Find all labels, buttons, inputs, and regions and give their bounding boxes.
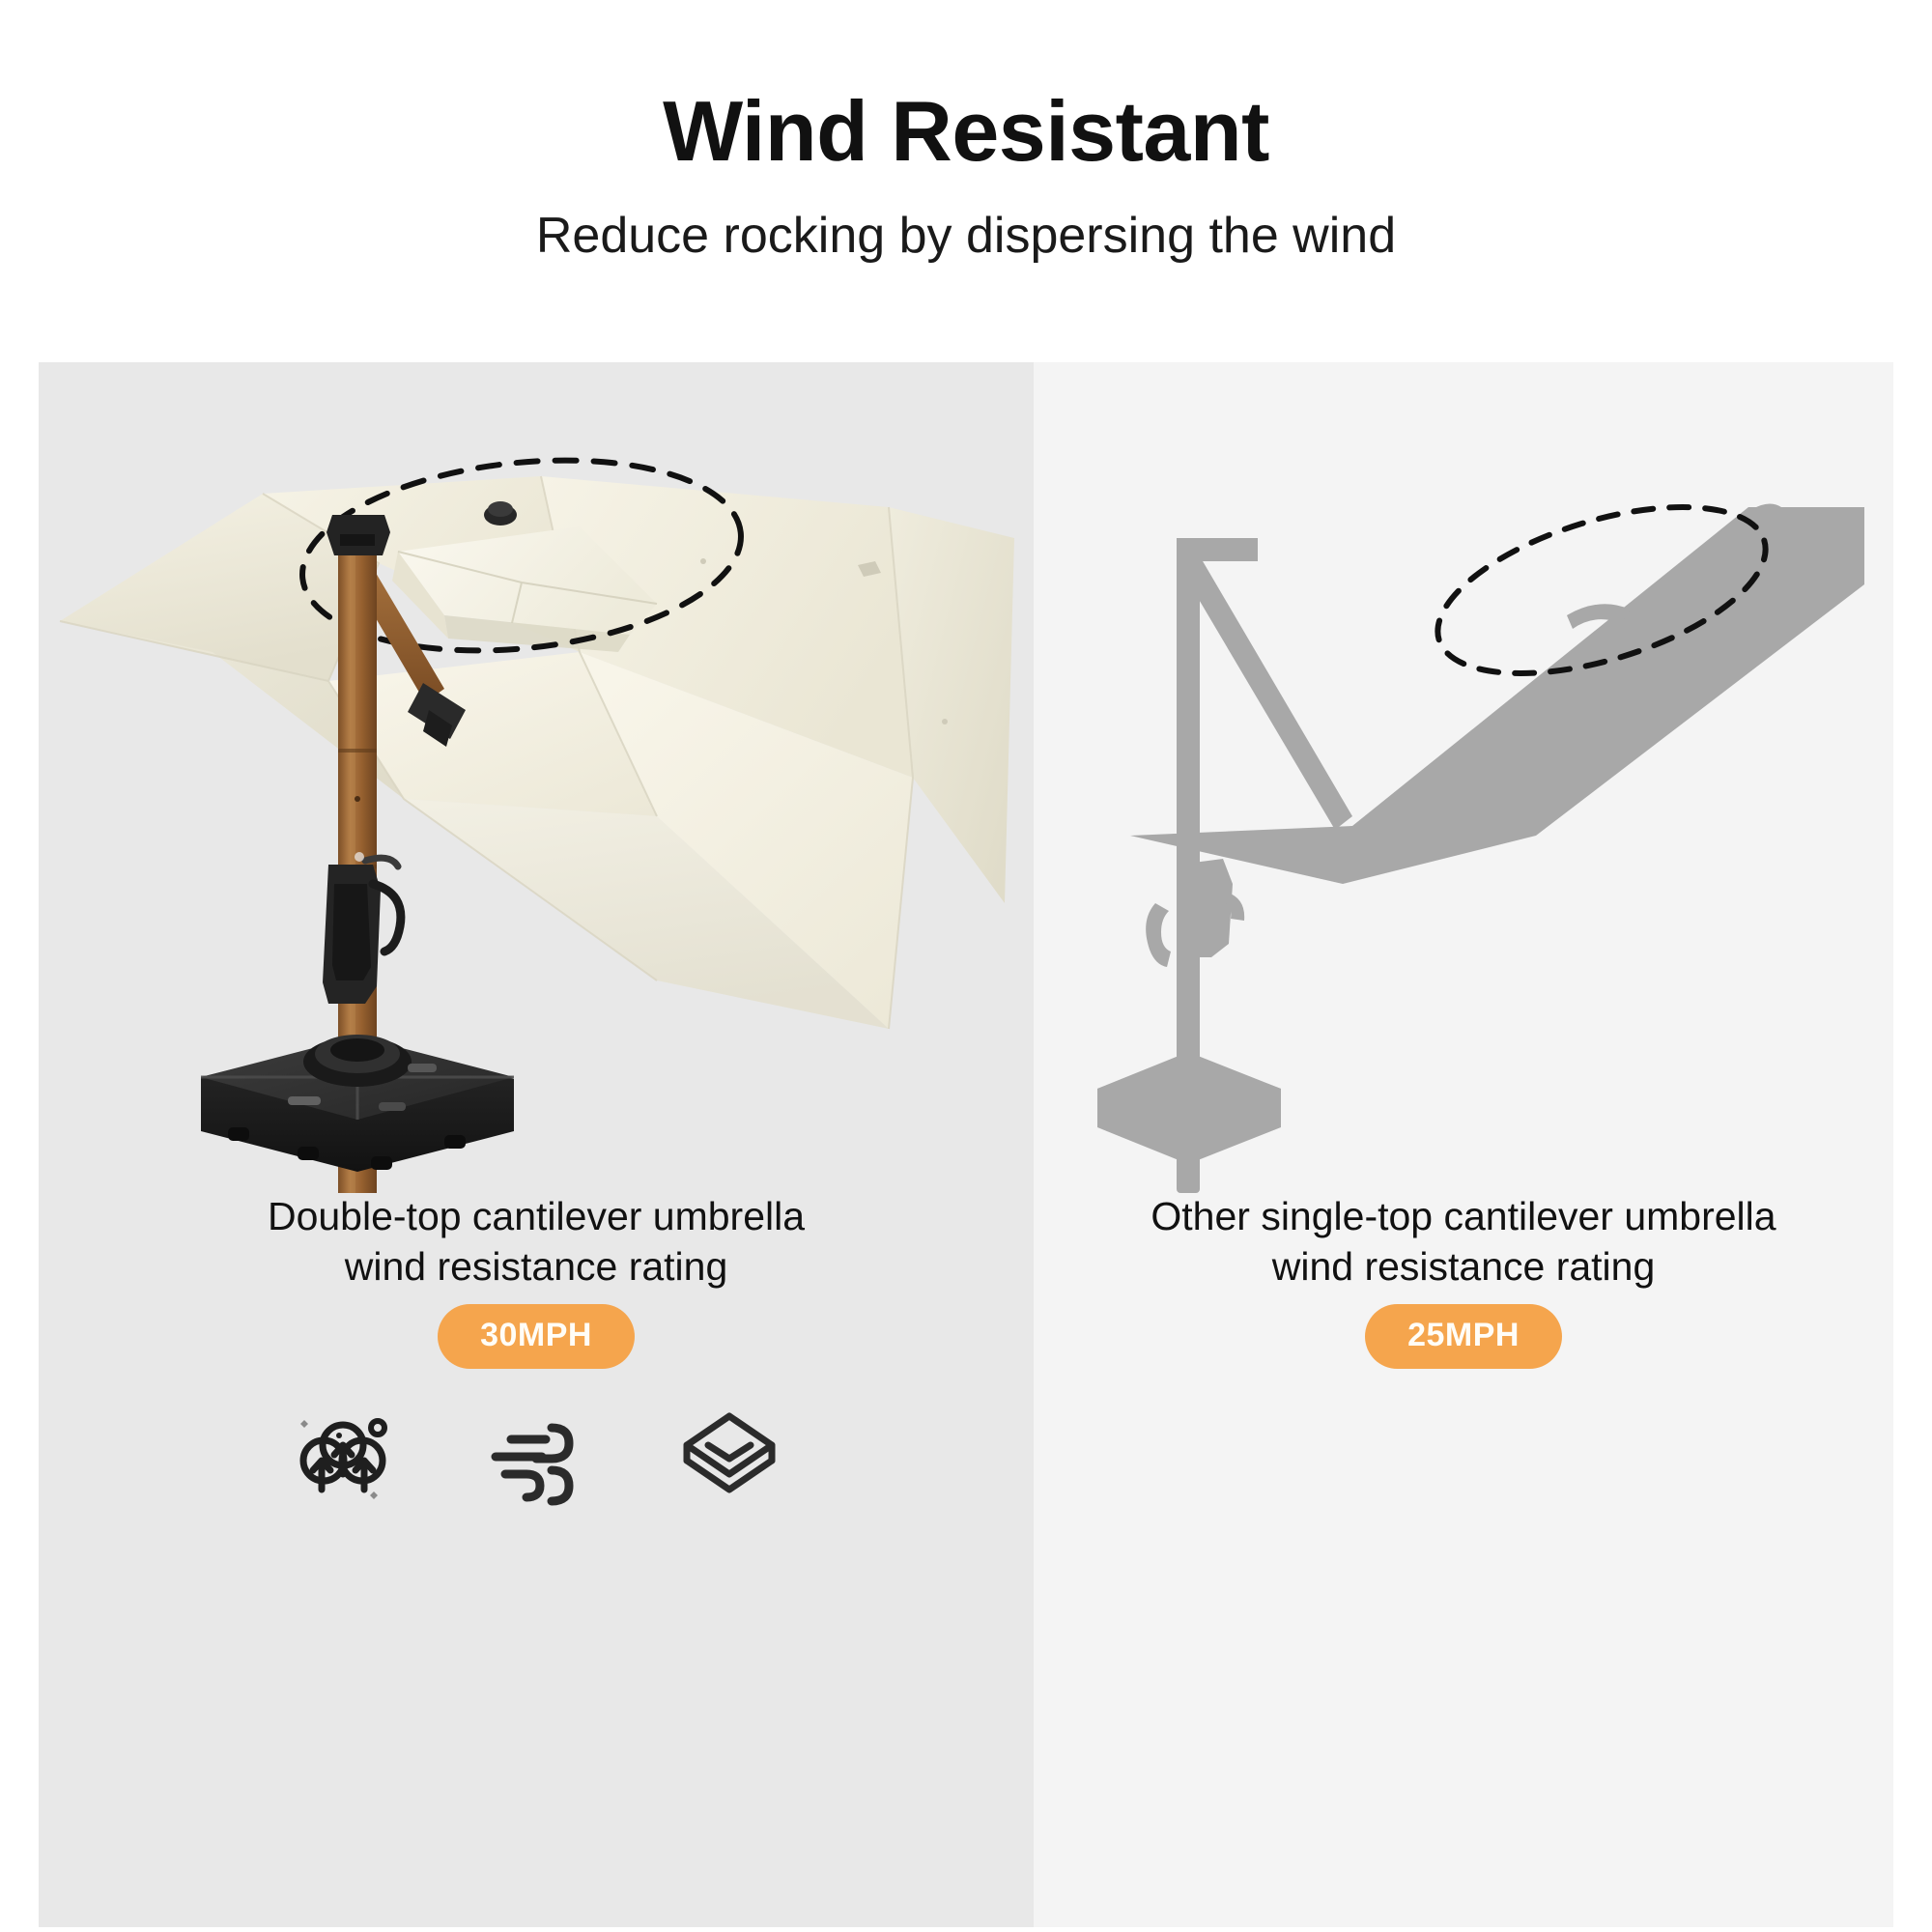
wind-flow-icon — [482, 1401, 590, 1509]
infographic-page: Wind Resistant Reduce rocking by dispers… — [0, 0, 1932, 1932]
header: Wind Resistant Reduce rocking by dispers… — [0, 0, 1932, 261]
right-caption-line2: wind resistance rating — [1034, 1241, 1893, 1292]
page-title: Wind Resistant — [0, 0, 1932, 174]
feature-icon-row — [39, 1401, 1034, 1509]
left-caption-line2: wind resistance rating — [39, 1241, 1034, 1292]
umbrella-silhouette-illustration — [1034, 362, 1893, 1193]
double-top-umbrella-photo — [39, 362, 1034, 1193]
single-top-umbrella-silhouette — [1034, 362, 1893, 1193]
double-layer-icon — [675, 1401, 783, 1509]
left-caption-line1: Double-top cantilever umbrella — [39, 1191, 1034, 1241]
double-top-umbrella-panel: Double-top cantilever umbrella wind resi… — [39, 362, 1034, 1927]
right-badge-wrap: 25MPH — [1034, 1304, 1893, 1369]
wind-rating-badge-right: 25MPH — [1365, 1304, 1562, 1369]
right-caption: Other single-top cantilever umbrella win… — [1034, 1191, 1893, 1293]
left-badge-wrap: 30MPH — [39, 1304, 1034, 1369]
air-circulation-icon — [289, 1401, 397, 1509]
right-caption-line1: Other single-top cantilever umbrella — [1034, 1191, 1893, 1241]
comparison-panels: Double-top cantilever umbrella wind resi… — [39, 362, 1893, 1927]
single-top-umbrella-panel: Other single-top cantilever umbrella win… — [1034, 362, 1893, 1927]
page-subtitle: Reduce rocking by dispersing the wind — [0, 174, 1932, 261]
left-caption: Double-top cantilever umbrella wind resi… — [39, 1191, 1034, 1293]
wind-rating-badge-left: 30MPH — [438, 1304, 635, 1369]
umbrella-illustration — [39, 362, 1034, 1193]
